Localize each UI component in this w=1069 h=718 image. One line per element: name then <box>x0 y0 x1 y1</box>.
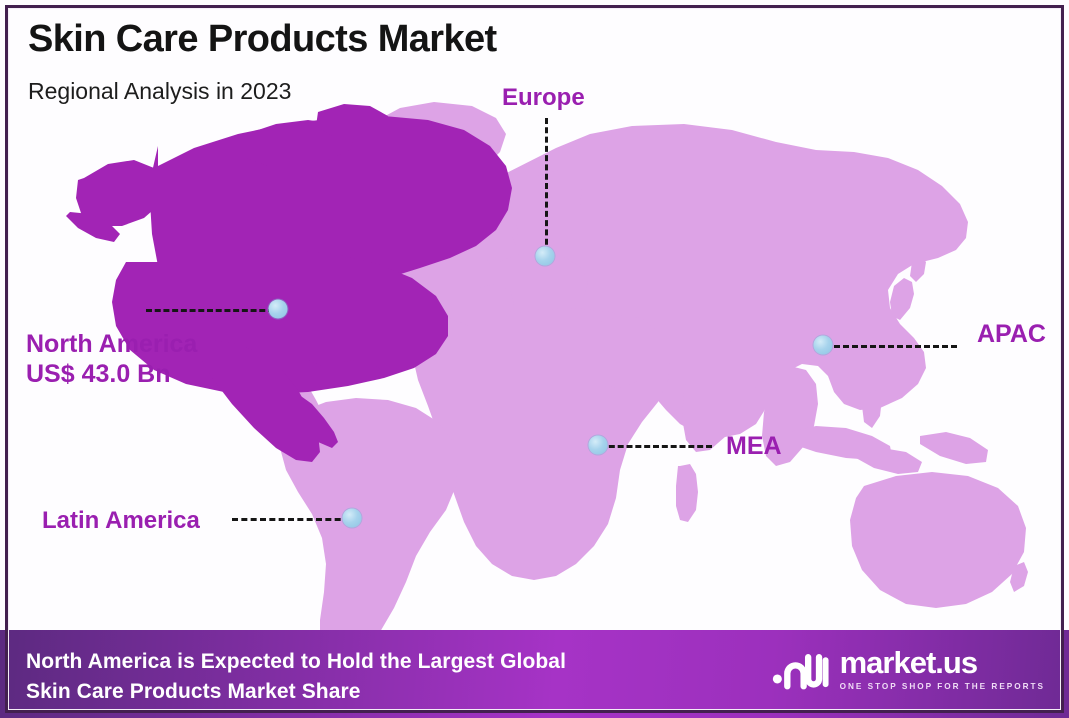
region-name-apac: APAC <box>977 320 1046 348</box>
leader-line-north-america <box>146 309 274 312</box>
logo-wordmark: market.us <box>840 647 1045 678</box>
leader-line-apac <box>825 345 957 348</box>
map-marker-mea[interactable] <box>589 436 608 455</box>
region-name-north-america: North America <box>26 330 197 358</box>
logo-text-block: market.us ONE STOP SHOP FOR THE REPORTS <box>840 647 1045 691</box>
region-value-north-america: US$ 43.0 Bn <box>26 360 197 390</box>
leader-line-europe <box>545 118 548 254</box>
map-marker-north-america[interactable] <box>269 300 288 319</box>
map-marker-latin-america[interactable] <box>343 509 362 528</box>
region-label-mea: MEA <box>726 432 782 462</box>
page-subtitle: Regional Analysis in 2023 <box>28 78 291 105</box>
banner-headline-line2: Skin Care Products Market Share <box>26 677 566 707</box>
banner-headline-line1: North America is Expected to Hold the La… <box>26 647 566 677</box>
market-us-logo-icon <box>771 646 829 692</box>
map-marker-europe[interactable] <box>536 247 555 266</box>
leader-line-mea <box>600 445 712 448</box>
map-marker-apac[interactable] <box>814 336 833 355</box>
region-name-mea: MEA <box>726 432 782 460</box>
bottom-banner: North America is Expected to Hold the La… <box>0 630 1069 718</box>
region-label-north-america: North America US$ 43.0 Bn <box>26 330 197 389</box>
leader-line-latin-america <box>232 518 350 521</box>
region-label-latin-america: Latin America <box>42 507 200 535</box>
banner-headline: North America is Expected to Hold the La… <box>26 647 566 707</box>
logo-tagline: ONE STOP SHOP FOR THE REPORTS <box>840 682 1045 691</box>
region-label-europe: Europe <box>502 84 585 112</box>
page-title: Skin Care Products Market <box>28 18 497 61</box>
region-label-apac: APAC <box>977 320 1046 350</box>
region-name-europe: Europe <box>502 84 585 111</box>
brand-logo[interactable]: market.us ONE STOP SHOP FOR THE REPORTS <box>771 646 1045 692</box>
infographic-canvas: Skin Care Products Market Regional Analy… <box>0 0 1069 718</box>
region-name-latin-america: Latin America <box>42 507 200 534</box>
